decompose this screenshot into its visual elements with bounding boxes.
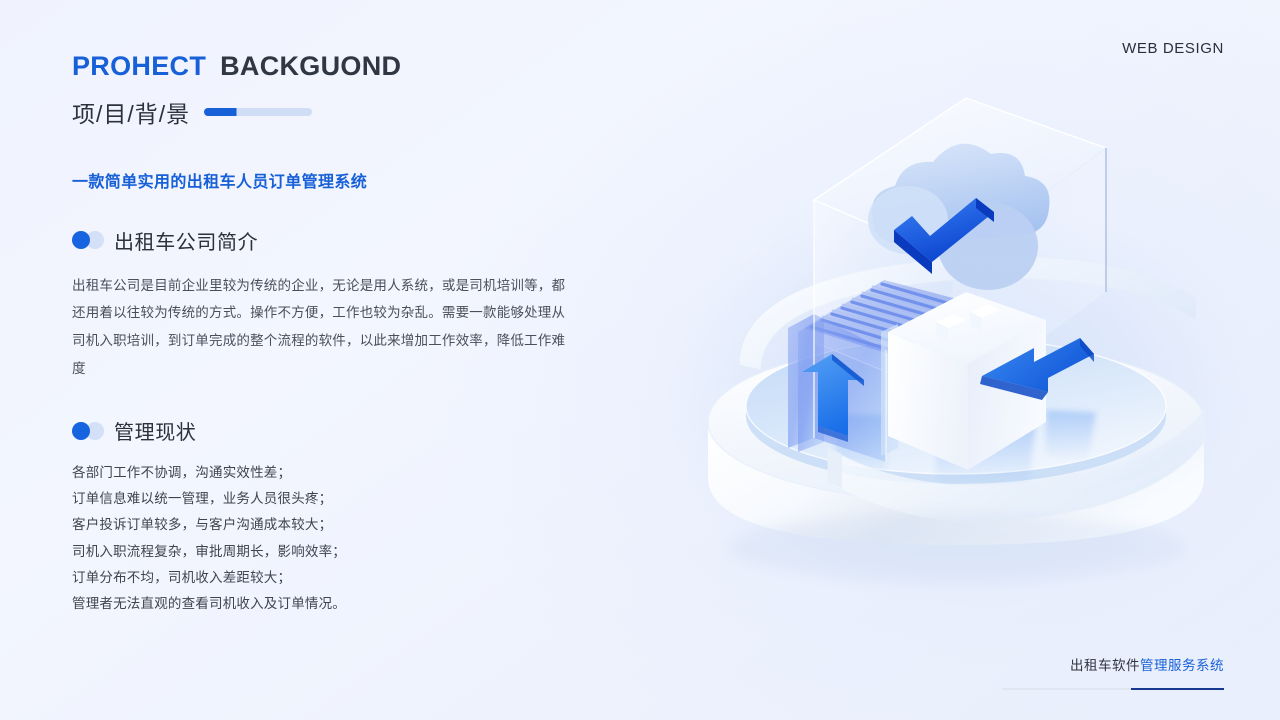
dual-dot-bullet-icon: [72, 422, 112, 440]
footer-text: 出租车软件管理服务系统: [1002, 654, 1224, 674]
floor-shadow: [726, 514, 1186, 582]
content-column: PROHECTBACKGUOND 项/目/背/景 一款简单实用的出租车人员订单管…: [72, 52, 612, 617]
list-item: 司机入职流程复杂，审批周期长，影响效率；: [72, 539, 612, 565]
footer-rule: [1002, 688, 1224, 690]
dot-front-icon: [72, 422, 90, 440]
list-item: 客户投诉订单较多，与客户沟通成本较大；: [72, 512, 612, 538]
section-management-status: 管理现状 各部门工作不协调，沟通实效性差； 订单信息难以统一管理，业务人员很头疼…: [72, 416, 612, 616]
section-title: 管理现状: [114, 416, 196, 445]
section-line-list: 各部门工作不协调，沟通实效性差； 订单信息难以统一管理，业务人员很头疼； 客户投…: [72, 460, 612, 616]
section-heading-row: 管理现状: [72, 416, 612, 445]
section-heading-row: 出租车公司简介: [72, 226, 612, 255]
title-accent-rule: [204, 108, 312, 116]
dot-front-icon: [72, 231, 90, 249]
list-item: 各部门工作不协调，沟通实效性差；: [72, 460, 612, 486]
web-design-kicker: WEB DESIGN: [1122, 40, 1224, 57]
dual-dot-bullet-icon: [72, 231, 112, 249]
footer-text-dark: 出租车软件: [1070, 658, 1140, 673]
list-item: 管理者无法直观的查看司机收入及订单情况。: [72, 591, 612, 617]
page-title-accent: PROHECT: [72, 51, 206, 81]
page-subtitle: 一款简单实用的出租车人员订单管理系统: [72, 168, 612, 192]
page-title-cn: 项/目/背/景: [72, 95, 190, 129]
footer: 出租车软件管理服务系统: [1002, 654, 1224, 690]
list-item: 订单信息难以统一管理，业务人员很头疼；: [72, 486, 612, 512]
page-title: PROHECTBACKGUOND: [72, 52, 612, 82]
section-company-intro: 出租车公司简介 出租车公司是目前企业里较为传统的企业，无论是用人系统，或是司机培…: [72, 226, 612, 383]
footer-text-blue: 管理服务系统: [1140, 658, 1224, 673]
page-title-rest: BACKGUOND: [220, 51, 401, 81]
section-paragraph: 出租车公司是目前企业里较为传统的企业，无论是用人系统，或是司机培训等，都还用着以…: [72, 272, 572, 383]
section-title: 出租车公司简介: [114, 226, 258, 255]
list-item: 订单分布不均，司机收入差距较大；: [72, 565, 612, 591]
hero-illustration: [636, 70, 1266, 610]
subtitle-cn-row: 项/目/背/景: [72, 95, 612, 129]
